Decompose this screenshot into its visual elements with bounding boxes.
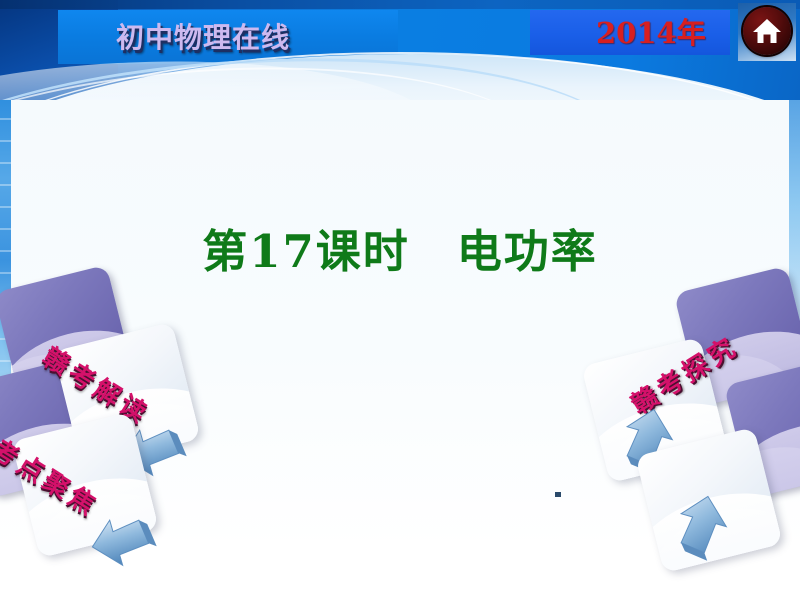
header-banner: 初中物理在线 2014年 xyxy=(0,0,800,100)
home-button-circle xyxy=(743,7,791,55)
stray-pixel-artifact xyxy=(555,492,561,497)
header-top-edge xyxy=(0,0,800,9)
home-button[interactable] xyxy=(738,3,796,61)
site-logo-text: 初中物理在线 xyxy=(116,16,346,60)
home-icon xyxy=(752,17,782,45)
presentation-slide: 初中物理在线 2014年 第17课时 电功率 xyxy=(0,0,800,600)
year-label: 2014年 xyxy=(596,13,736,53)
slide-title: 第17课时 电功率 xyxy=(0,215,800,280)
